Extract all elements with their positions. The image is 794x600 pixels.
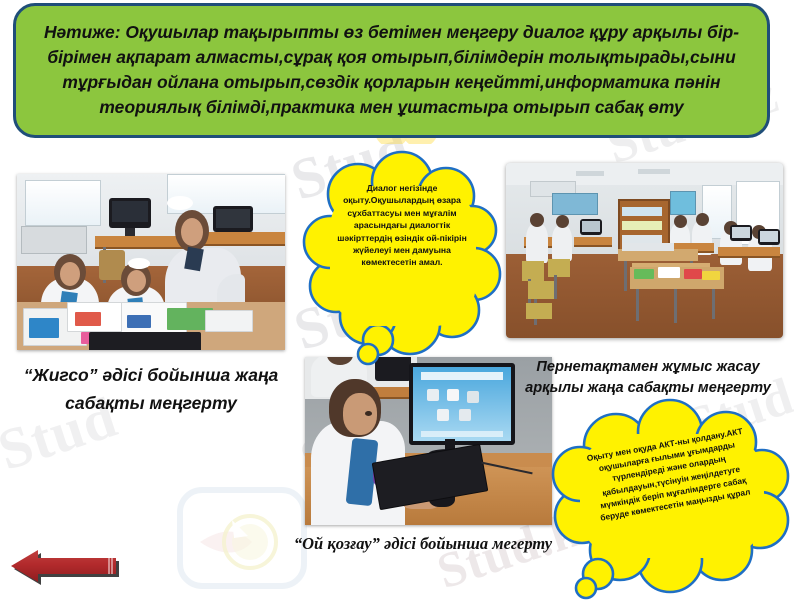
back-arrow[interactable]	[8, 546, 122, 586]
result-banner: Нәтиже: Оқушылар тақырыпты өз бетімен ме…	[13, 3, 770, 138]
photo-pupils-reading	[17, 174, 285, 350]
slide-canvas: Stud Stud.kz Stud.kz Stud.kz Stud.kz Stu…	[0, 0, 794, 600]
result-banner-text: Нәтиже: Оқушылар тақырыпты өз бетімен ме…	[34, 20, 749, 120]
brainstorm-caption: “Ой қозғау” әдісі бойынша мегерту	[284, 531, 562, 556]
ict-bubble: Оқыту мен оқуда АКТ-ны қолдану.АКТ оқушы…	[554, 404, 792, 600]
keyboard-caption: Пернетақтамен жұмыс жасау арқылы жаңа са…	[512, 357, 784, 399]
dialog-bubble: Диалог негізінде оқыту.Оқушылардың өзара…	[306, 150, 496, 365]
jigsaw-caption: “Жигсо” әдісі бойынша жаңа сабақты меңге…	[6, 361, 296, 417]
photo-classroom	[506, 163, 783, 338]
